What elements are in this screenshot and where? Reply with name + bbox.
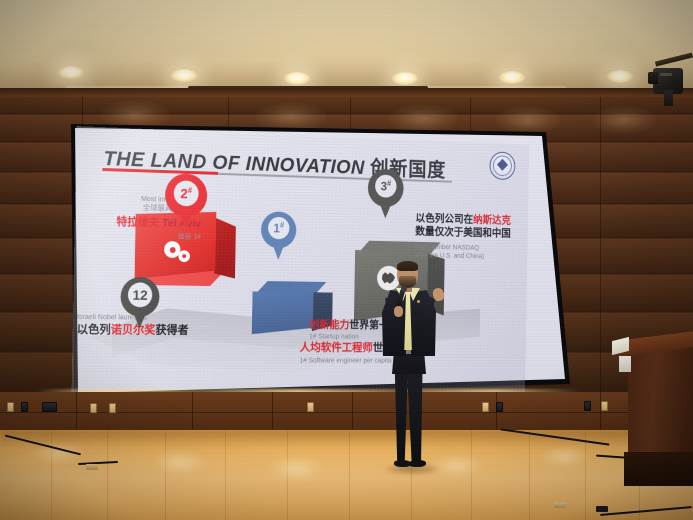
- pin-tail: [175, 203, 196, 229]
- wainscot-seam: [272, 392, 273, 434]
- organization-emblem-icon: [489, 151, 515, 180]
- ceiling-downlight: [284, 72, 310, 85]
- pin-tail: [376, 195, 394, 218]
- wall-seam: [600, 88, 601, 420]
- ceiling-downlight: [171, 69, 197, 82]
- wall-power-outlet: [90, 403, 97, 413]
- callout-top-right: 以色列公司在纳斯达克 数量仅次于美国和中国 High number NASDAQ…: [415, 212, 523, 262]
- lectern-body: [628, 348, 693, 458]
- presenter-hand-mic: [394, 306, 403, 317]
- wainscot-seam: [496, 392, 497, 434]
- floor-light-reflection: [540, 446, 588, 468]
- presenter-shoe-right: [409, 460, 426, 467]
- wall-power-outlet: [21, 402, 28, 412]
- conference-photo-scene: THE LAND OF INNOVATION 创新国度: [0, 0, 693, 520]
- callout-headline-2: 数量仅次于美国和中国: [415, 225, 523, 241]
- pin-label: 1#: [273, 221, 284, 236]
- microphone-capsule: [401, 286, 407, 292]
- floor-connector-box: [554, 502, 566, 508]
- camera-highlight: [660, 73, 672, 76]
- pin-count-12: 12: [120, 277, 160, 329]
- ceiling-downlight: [392, 72, 418, 85]
- wall-light-reflection: [388, 104, 458, 134]
- wall-power-outlet: [601, 401, 608, 411]
- slide-content: THE LAND OF INNOVATION 创新国度: [72, 126, 530, 396]
- pin-rank-3: 3#: [367, 168, 404, 218]
- pin-rank-1: 1#: [261, 211, 297, 260]
- ceiling-downlight: [607, 70, 633, 83]
- lectern-paper-secondary: [619, 356, 631, 372]
- ceiling-downlight: [58, 66, 84, 79]
- floor-light-reflection: [268, 456, 324, 482]
- ceiling-downlight: [499, 71, 525, 84]
- pin-label: 12: [132, 287, 147, 303]
- wainscot-panel: [0, 392, 693, 434]
- pin-tail: [269, 237, 287, 261]
- floor-light-reflection: [152, 450, 208, 476]
- lectern-base: [624, 452, 693, 486]
- wall-power-outlet: [307, 402, 314, 412]
- wainscot-seam: [600, 392, 601, 434]
- globe-landmass: [381, 271, 396, 285]
- callout-tag: 硅谷 1#: [80, 231, 200, 243]
- podium-blue-face: [252, 291, 314, 334]
- wainscot-line: [0, 412, 693, 413]
- wall-switch-panel: [42, 402, 57, 412]
- pin-label: 2#: [180, 185, 192, 201]
- floor-connector-box: [596, 506, 608, 512]
- presenter-lapel-pin: [417, 300, 420, 303]
- wall-top-trim: [0, 88, 693, 97]
- pin-rank-2: 2#: [165, 173, 208, 229]
- presenter-shoe-left: [394, 460, 411, 467]
- callout-en-line: 1# Software engineer per capita: [299, 355, 486, 364]
- wainscot-seam: [352, 392, 353, 434]
- pin-label: 3#: [380, 179, 391, 194]
- podium-red-side: [214, 218, 236, 279]
- camera-mount-base: [664, 90, 673, 106]
- wall-light-reflection: [495, 106, 561, 134]
- floor-wall-reflection: [0, 430, 693, 448]
- wall-power-outlet: [7, 402, 14, 412]
- wall-power-outlet: [584, 401, 591, 411]
- presentation-screen[interactable]: THE LAND OF INNOVATION 创新国度: [72, 126, 530, 396]
- wainscot-seam: [192, 392, 193, 434]
- wall-power-outlet: [109, 403, 116, 413]
- presenter-hair: [397, 261, 418, 271]
- wainscot-seam: [76, 392, 77, 434]
- pin-tail: [130, 305, 150, 329]
- presenter-belt-buckle: [406, 350, 411, 354]
- camera-lens: [648, 72, 658, 84]
- wall-power-outlet: [482, 402, 489, 412]
- wall-power-outlet: [496, 402, 503, 412]
- wall-light-reflection: [592, 106, 656, 134]
- stage-floor: [0, 430, 693, 520]
- floor-light-reflection: [430, 454, 484, 478]
- floor-connector-box: [86, 464, 98, 470]
